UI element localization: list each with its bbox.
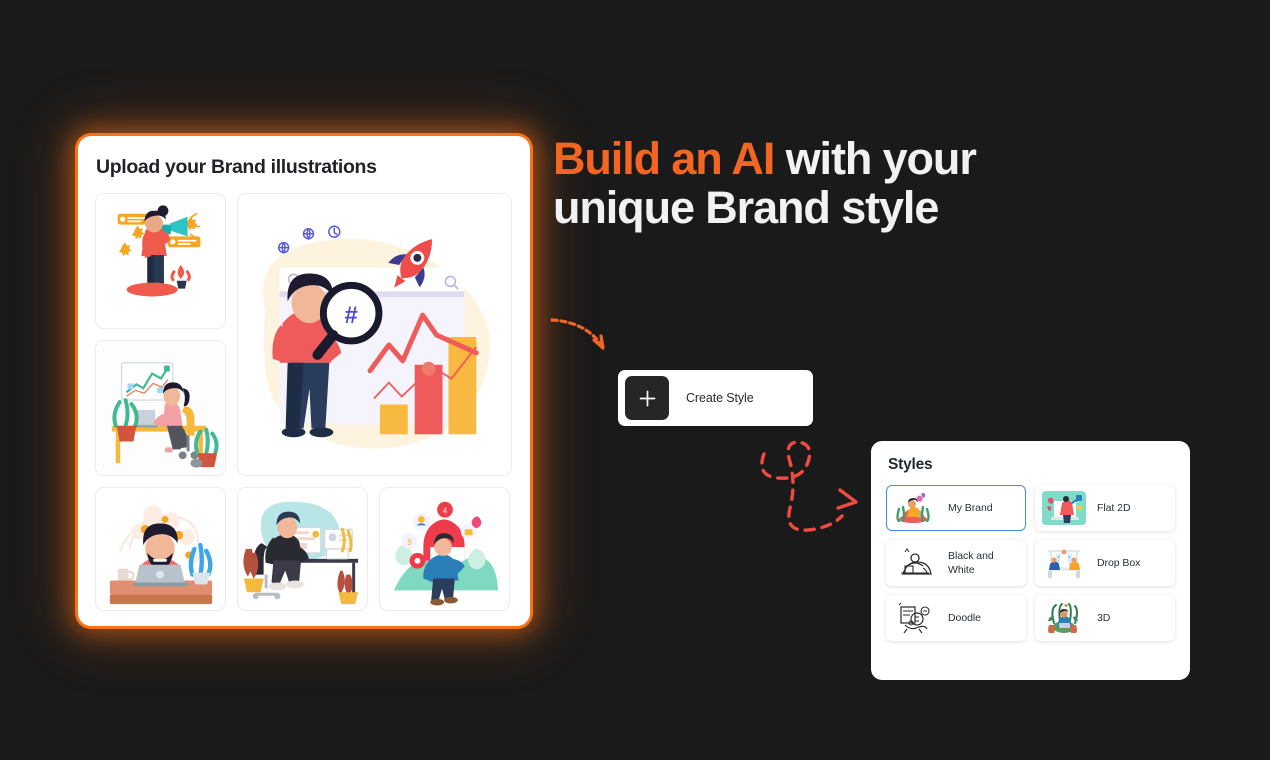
style-label: My Brand [948, 501, 993, 515]
hero-headline-accent: Build an AI [553, 133, 774, 184]
illustration-thumbnail-man-with-magnifier-analytics[interactable]: # [237, 193, 512, 476]
illustration-thumbnail-woman-with-megaphone[interactable] [95, 193, 226, 329]
dashed-arrow-orange [546, 306, 616, 358]
illustration-thumbnail-woman-at-desk-with-chart[interactable] [95, 340, 226, 476]
three-d-thumb-icon [1042, 601, 1086, 635]
illustration-grid-top: # [95, 193, 513, 476]
my-brand-thumb-icon [893, 491, 937, 525]
svg-text:4: 4 [443, 507, 448, 516]
style-item-flat-2d[interactable]: Flat 2D [1035, 485, 1175, 531]
doodle-thumb-icon [893, 601, 937, 635]
style-label: 3D [1097, 611, 1110, 625]
style-label: Doodle [948, 611, 981, 625]
styles-panel-title: Styles [888, 456, 1175, 474]
hero-headline: Build an AI with your unique Brand style [553, 134, 1073, 232]
style-item-doodle[interactable]: Doodle [886, 595, 1026, 641]
illustration-thumbnail-bearded-man-with-laptop[interactable] [95, 487, 226, 611]
style-label: Flat 2D [1097, 501, 1131, 515]
svg-text:$: $ [407, 538, 412, 547]
plus-icon [625, 376, 669, 420]
create-style-button[interactable]: Create Style [618, 370, 813, 426]
illustration-thumbnail-person-at-dual-monitor-desk[interactable] [237, 487, 368, 611]
style-item-3d[interactable]: 3D [1035, 595, 1175, 641]
black-and-white-thumb-icon [893, 546, 937, 580]
create-style-label: Create Style [686, 391, 754, 405]
svg-text:#: # [345, 302, 358, 329]
illustration-grid-bottom: 4 $ [95, 487, 513, 611]
flat-2d-thumb-icon [1042, 491, 1086, 525]
style-item-black-and-white[interactable]: Black and White [886, 540, 1026, 586]
illustration-column-left [95, 193, 226, 476]
styles-grid: My Brand Flat 2D [886, 485, 1175, 641]
drop-box-thumb-icon [1042, 546, 1086, 580]
style-item-my-brand[interactable]: My Brand [886, 485, 1026, 531]
page-title: Upload your Brand illustrations [96, 156, 513, 179]
style-item-drop-box[interactable]: Drop Box [1035, 540, 1175, 586]
dashed-loop-arrow-red [748, 432, 878, 542]
illustration-thumbnail-man-holding-magnet[interactable]: 4 $ [379, 487, 510, 611]
style-label: Black and White [948, 549, 1019, 577]
styles-panel: Styles My Brand [871, 441, 1190, 680]
upload-brand-illustrations-card: Upload your Brand illustrations [78, 136, 530, 626]
style-label: Drop Box [1097, 556, 1140, 570]
